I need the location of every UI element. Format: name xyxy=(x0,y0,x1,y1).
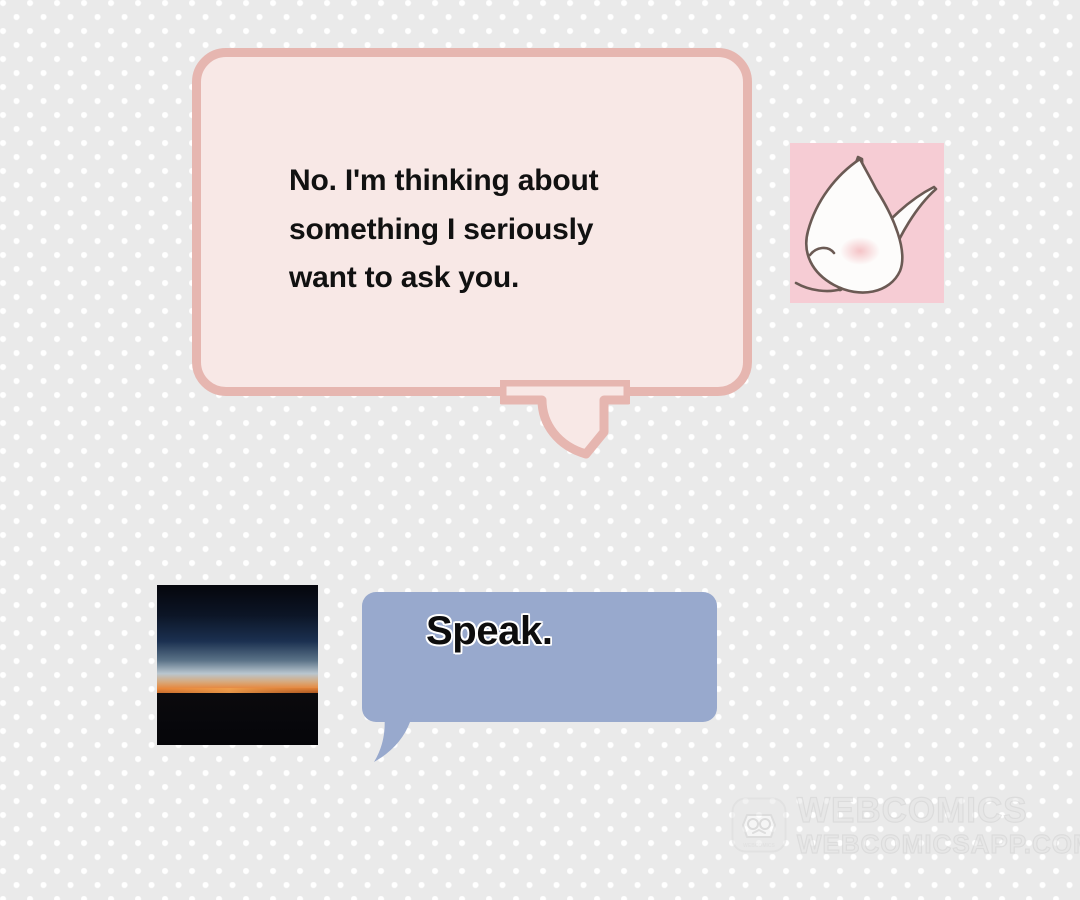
photo-sunset-horizon xyxy=(157,585,318,745)
watermark-text: WEBCOMICS WEBCOMICSAPP.COM xyxy=(797,793,1080,857)
comic-panel: No. I'm thinking about something I serio… xyxy=(0,0,1080,900)
watermark: WEBCOMICS WEBCOMICS WEBCOMICSAPP.COM xyxy=(731,789,1041,861)
speech-bubble-blue: Speak. xyxy=(362,592,717,722)
watermark-logo-caption: WEBCOMICS xyxy=(743,843,775,849)
speech-bubble-blue-text: Speak. xyxy=(426,609,553,654)
watermark-domain: WEBCOMICSAPP.COM xyxy=(797,831,1080,857)
speech-bubble-pink-tail xyxy=(500,380,630,470)
speech-bubble-pink: No. I'm thinking about something I serio… xyxy=(192,48,752,396)
avatar-rabbit-character xyxy=(790,143,944,303)
speech-bubble-pink-text: No. I'm thinking about something I serio… xyxy=(289,157,689,303)
speech-bubble-blue-tail xyxy=(370,712,430,764)
watermark-title: WEBCOMICS xyxy=(797,793,1080,828)
webcomics-logo-icon: WEBCOMICS xyxy=(731,797,787,853)
